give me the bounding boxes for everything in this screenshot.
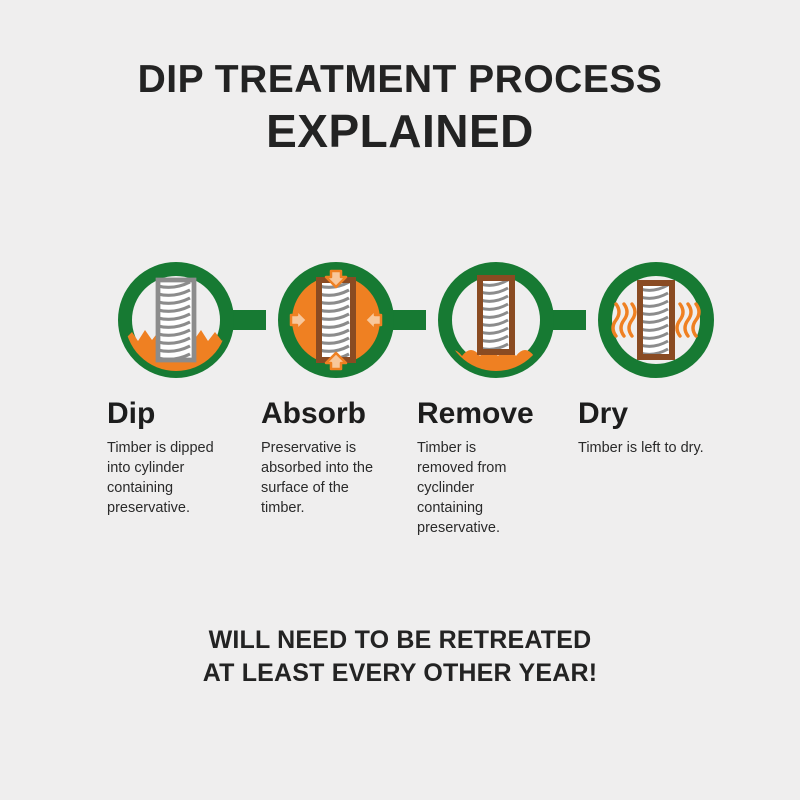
step-icon-remove[interactable] [444, 269, 548, 378]
step-icon-absorb[interactable] [285, 269, 387, 371]
page-title: DIP TREATMENT PROCESS EXPLAINED [0, 58, 800, 157]
step-desc-remove: Timber is removed from cyclinder contain… [417, 438, 535, 538]
step-desc-dry: Timber is left to dry. [578, 438, 718, 458]
step-icon-dry[interactable] [605, 269, 707, 371]
step-title-dip: Dip [107, 398, 259, 430]
timber-block-dry-icon [640, 283, 672, 357]
step-text-dip: Dip Timber is dipped into cylinder conta… [107, 398, 259, 518]
timber-block-grey-icon [158, 280, 194, 360]
footer-note: WILL NEED TO BE RETREATED AT LEAST EVERY… [0, 624, 800, 691]
step-desc-dip: Timber is dipped into cylinder containin… [107, 438, 225, 518]
title-line-secondary: EXPLAINED [0, 106, 800, 158]
footer-line-2: AT LEAST EVERY OTHER YEAR! [0, 657, 800, 690]
step-title-remove: Remove [417, 398, 569, 430]
step-text-dry: Dry Timber is left to dry. [578, 398, 730, 458]
step-text-absorb: Absorb Preservative is absorbed into the… [261, 398, 413, 518]
step-descriptions: Dip Timber is dipped into cylinder conta… [0, 398, 800, 558]
step-desc-absorb: Preservative is absorbed into the surfac… [261, 438, 379, 518]
title-line-primary: DIP TREATMENT PROCESS [0, 58, 800, 102]
timber-block-raised-icon [480, 278, 512, 352]
footer-line-1: WILL NEED TO BE RETREATED [0, 624, 800, 657]
step-icon-dip[interactable] [124, 269, 228, 376]
process-diagram [86, 248, 726, 393]
timber-block-brown-icon [319, 280, 353, 360]
step-title-absorb: Absorb [261, 398, 413, 430]
step-text-remove: Remove Timber is removed from cyclinder … [417, 398, 569, 538]
step-title-dry: Dry [578, 398, 730, 430]
